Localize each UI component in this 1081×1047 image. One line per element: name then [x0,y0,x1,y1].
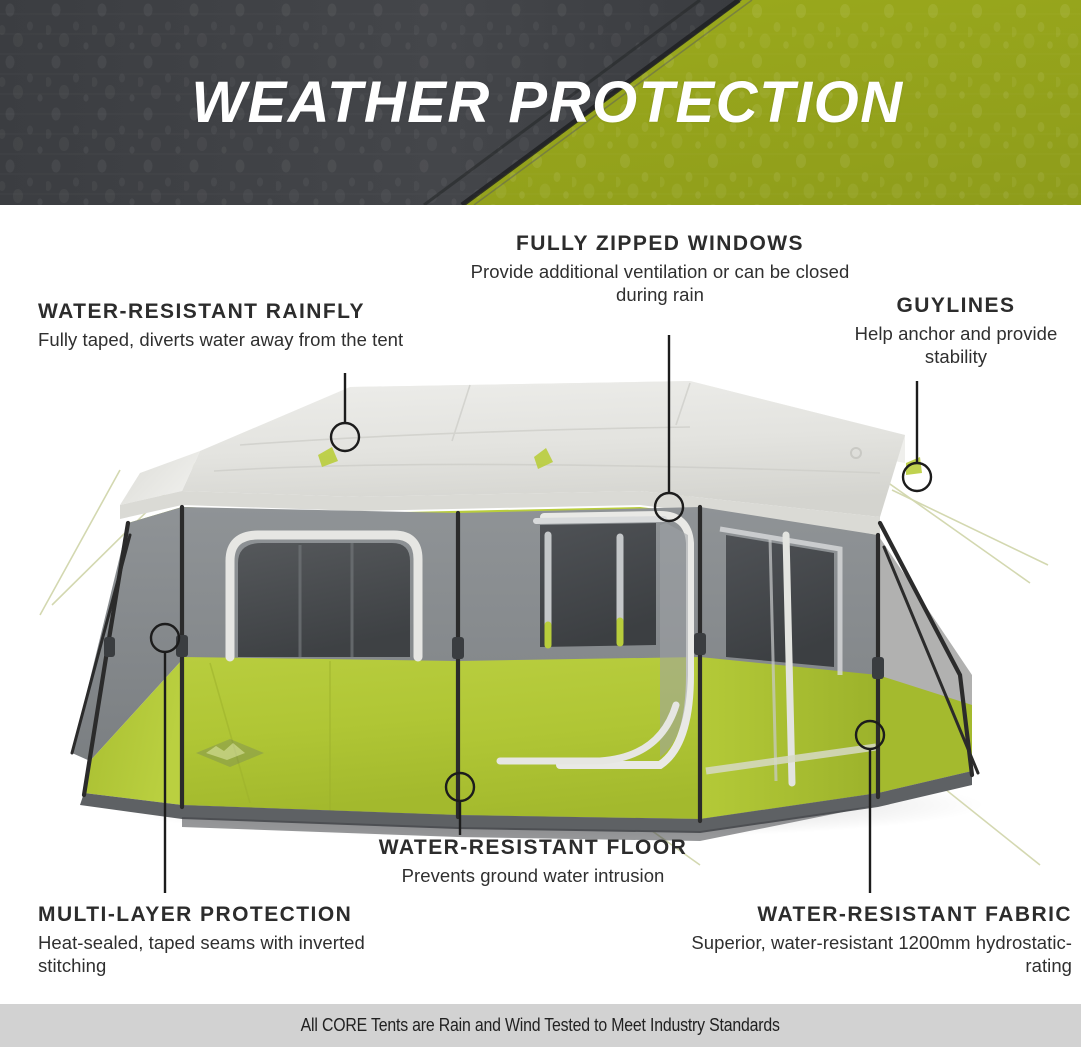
infographic-page: WEATHER PROTECTION [0,0,1081,1047]
tent-body-green-left [182,657,458,815]
callout-description: Fully taped, diverts water away from the… [38,328,438,352]
callout-water-resistant-rainfly: WATER-RESISTANT RAINFLY Fully taped, div… [38,300,438,351]
window-center-mesh [540,523,656,647]
header-banner: WEATHER PROTECTION [0,0,1081,205]
callout-title: FULLY ZIPPED WINDOWS [455,232,865,257]
callout-title: MULTI-LAYER PROTECTION [38,903,438,928]
callout-water-resistant-floor: WATER-RESISTANT FLOOR Prevents ground wa… [318,836,748,887]
callout-description: Help anchor and provide stability [846,322,1066,369]
callout-guylines: GUYLINES Help anchor and provide stabili… [846,294,1066,369]
callout-title: WATER-RESISTANT RAINFLY [38,300,438,325]
callout-multi-layer-protection: MULTI-LAYER PROTECTION Heat-sealed, tape… [38,903,438,978]
page-title: WEATHER PROTECTION [0,0,1081,205]
callout-title: GUYLINES [846,294,1066,319]
callout-fully-zipped-windows: FULLY ZIPPED WINDOWS Provide additional … [455,232,865,307]
callout-title: WATER-RESISTANT FLOOR [318,836,748,861]
callout-title: WATER-RESISTANT FABRIC [672,903,1072,928]
window-center-flap [536,519,664,521]
callout-water-resistant-fabric: WATER-RESISTANT FABRIC Superior, water-r… [672,903,1072,978]
footer-bar: All CORE Tents are Rain and Wind Tested … [0,1004,1081,1047]
window-right-mesh [726,535,834,667]
callout-description: Provide additional ventilation or can be… [455,260,865,307]
callout-description: Heat-sealed, taped seams with inverted s… [38,931,438,978]
footer-text: All CORE Tents are Rain and Wind Tested … [301,1015,780,1036]
window-left-mesh [238,543,410,657]
callout-description: Prevents ground water intrusion [318,864,748,888]
callout-description: Superior, water-resistant 1200mm hydrost… [672,931,1072,978]
